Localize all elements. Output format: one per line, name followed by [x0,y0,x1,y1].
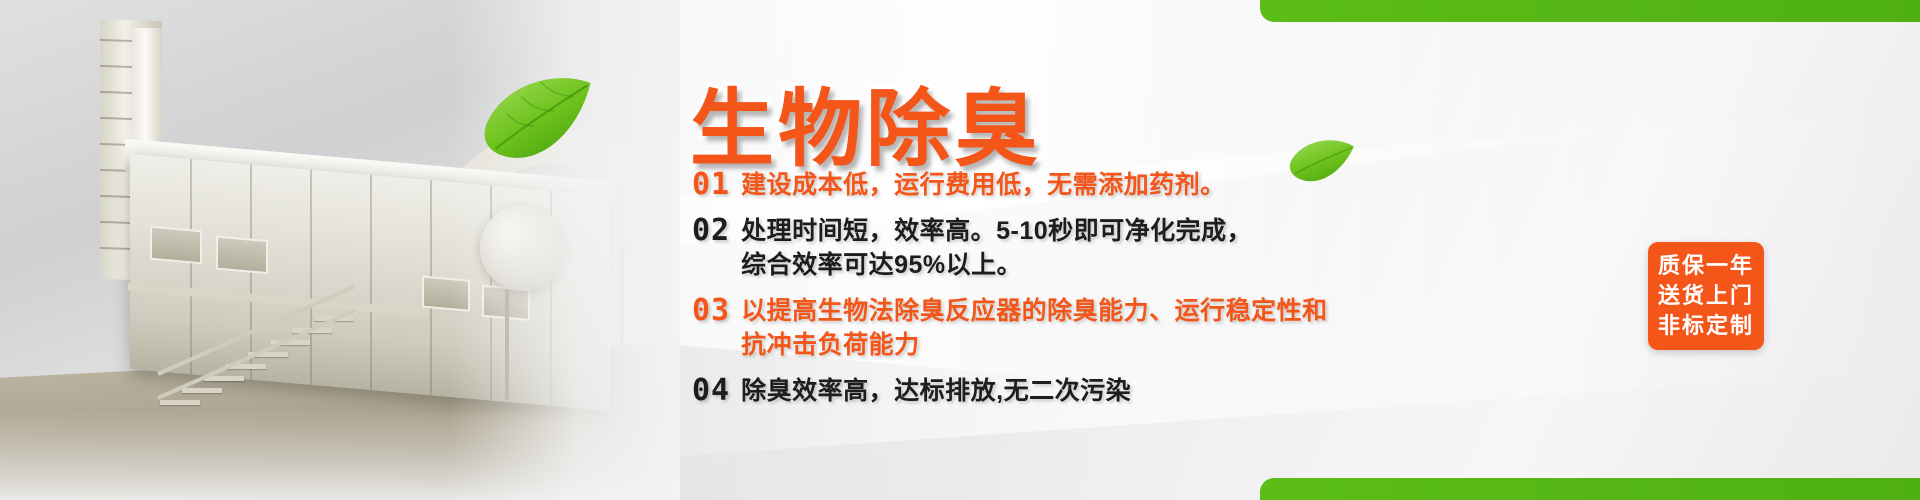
bullet-number-04: 04 [692,374,730,408]
badge-line-1: 质保一年 [1658,251,1754,281]
bullet-text-02-line1: 处理时间短，效率高。5-10秒即可净化完成， [741,217,1252,245]
bullet-number-02: 02 [692,214,730,248]
bullet-text-01: 建设成本低，运行费用低，无需添加药剂。 [741,168,1226,202]
promotional-banner: 生物除臭 生物除臭 01 建设成本低，运行费用低，无需添加药剂。 02 处理时间… [0,0,1920,500]
bullet-text-02: 处理时间短，效率高。5-10秒即可净化完成， 综合效率可达95%以上。 [741,214,1252,282]
badge-line-2: 送货上门 [1658,281,1754,311]
text-content: 生物除臭 生物除臭 01 建设成本低，运行费用低，无需添加药剂。 02 处理时间… [690,0,1690,500]
list-item: 01 建设成本低，运行费用低，无需添加药剂。 [692,168,1682,202]
feature-list: 01 建设成本低，运行费用低，无需添加药剂。 02 处理时间短，效率高。5-10… [692,168,1682,420]
list-item: 02 处理时间短，效率高。5-10秒即可净化完成， 综合效率可达95%以上。 [692,214,1682,282]
bullet-text-02-line2: 综合效率可达95%以上。 [741,248,1252,282]
exhaust-stack [132,28,162,148]
staircase [150,300,370,420]
bullet-text-03-line2: 抗冲击负荷能力 [741,328,1328,362]
list-item: 03 以提高生物法除臭反应器的除臭能力、运行稳定性和 抗冲击负荷能力 [692,294,1682,362]
list-item: 04 除臭效率高，达标排放,无二次污染 [692,374,1682,408]
bullet-number-03: 03 [692,294,730,328]
bullet-text-04-line1: 除臭效率高，达标排放,无二次污染 [741,377,1131,405]
bullet-text-04: 除臭效率高，达标排放,无二次污染 [741,374,1131,408]
page-title-fill: 生物除臭 [690,62,1042,183]
bullet-text-01-line1: 建设成本低，运行费用低，无需添加药剂。 [741,171,1226,199]
badge-line-3: 非标定制 [1658,311,1754,341]
guarantee-badge: 质保一年 送货上门 非标定制 [1648,242,1764,350]
bullet-text-03-line1: 以提高生物法除臭反应器的除臭能力、运行稳定性和 [741,297,1328,325]
bullet-text-03: 以提高生物法除臭反应器的除臭能力、运行稳定性和 抗冲击负荷能力 [741,294,1328,362]
page-title: 生物除臭 生物除臭 [690,62,1042,183]
photo-bottom-fade [0,410,680,500]
bullet-number-01: 01 [692,168,730,202]
